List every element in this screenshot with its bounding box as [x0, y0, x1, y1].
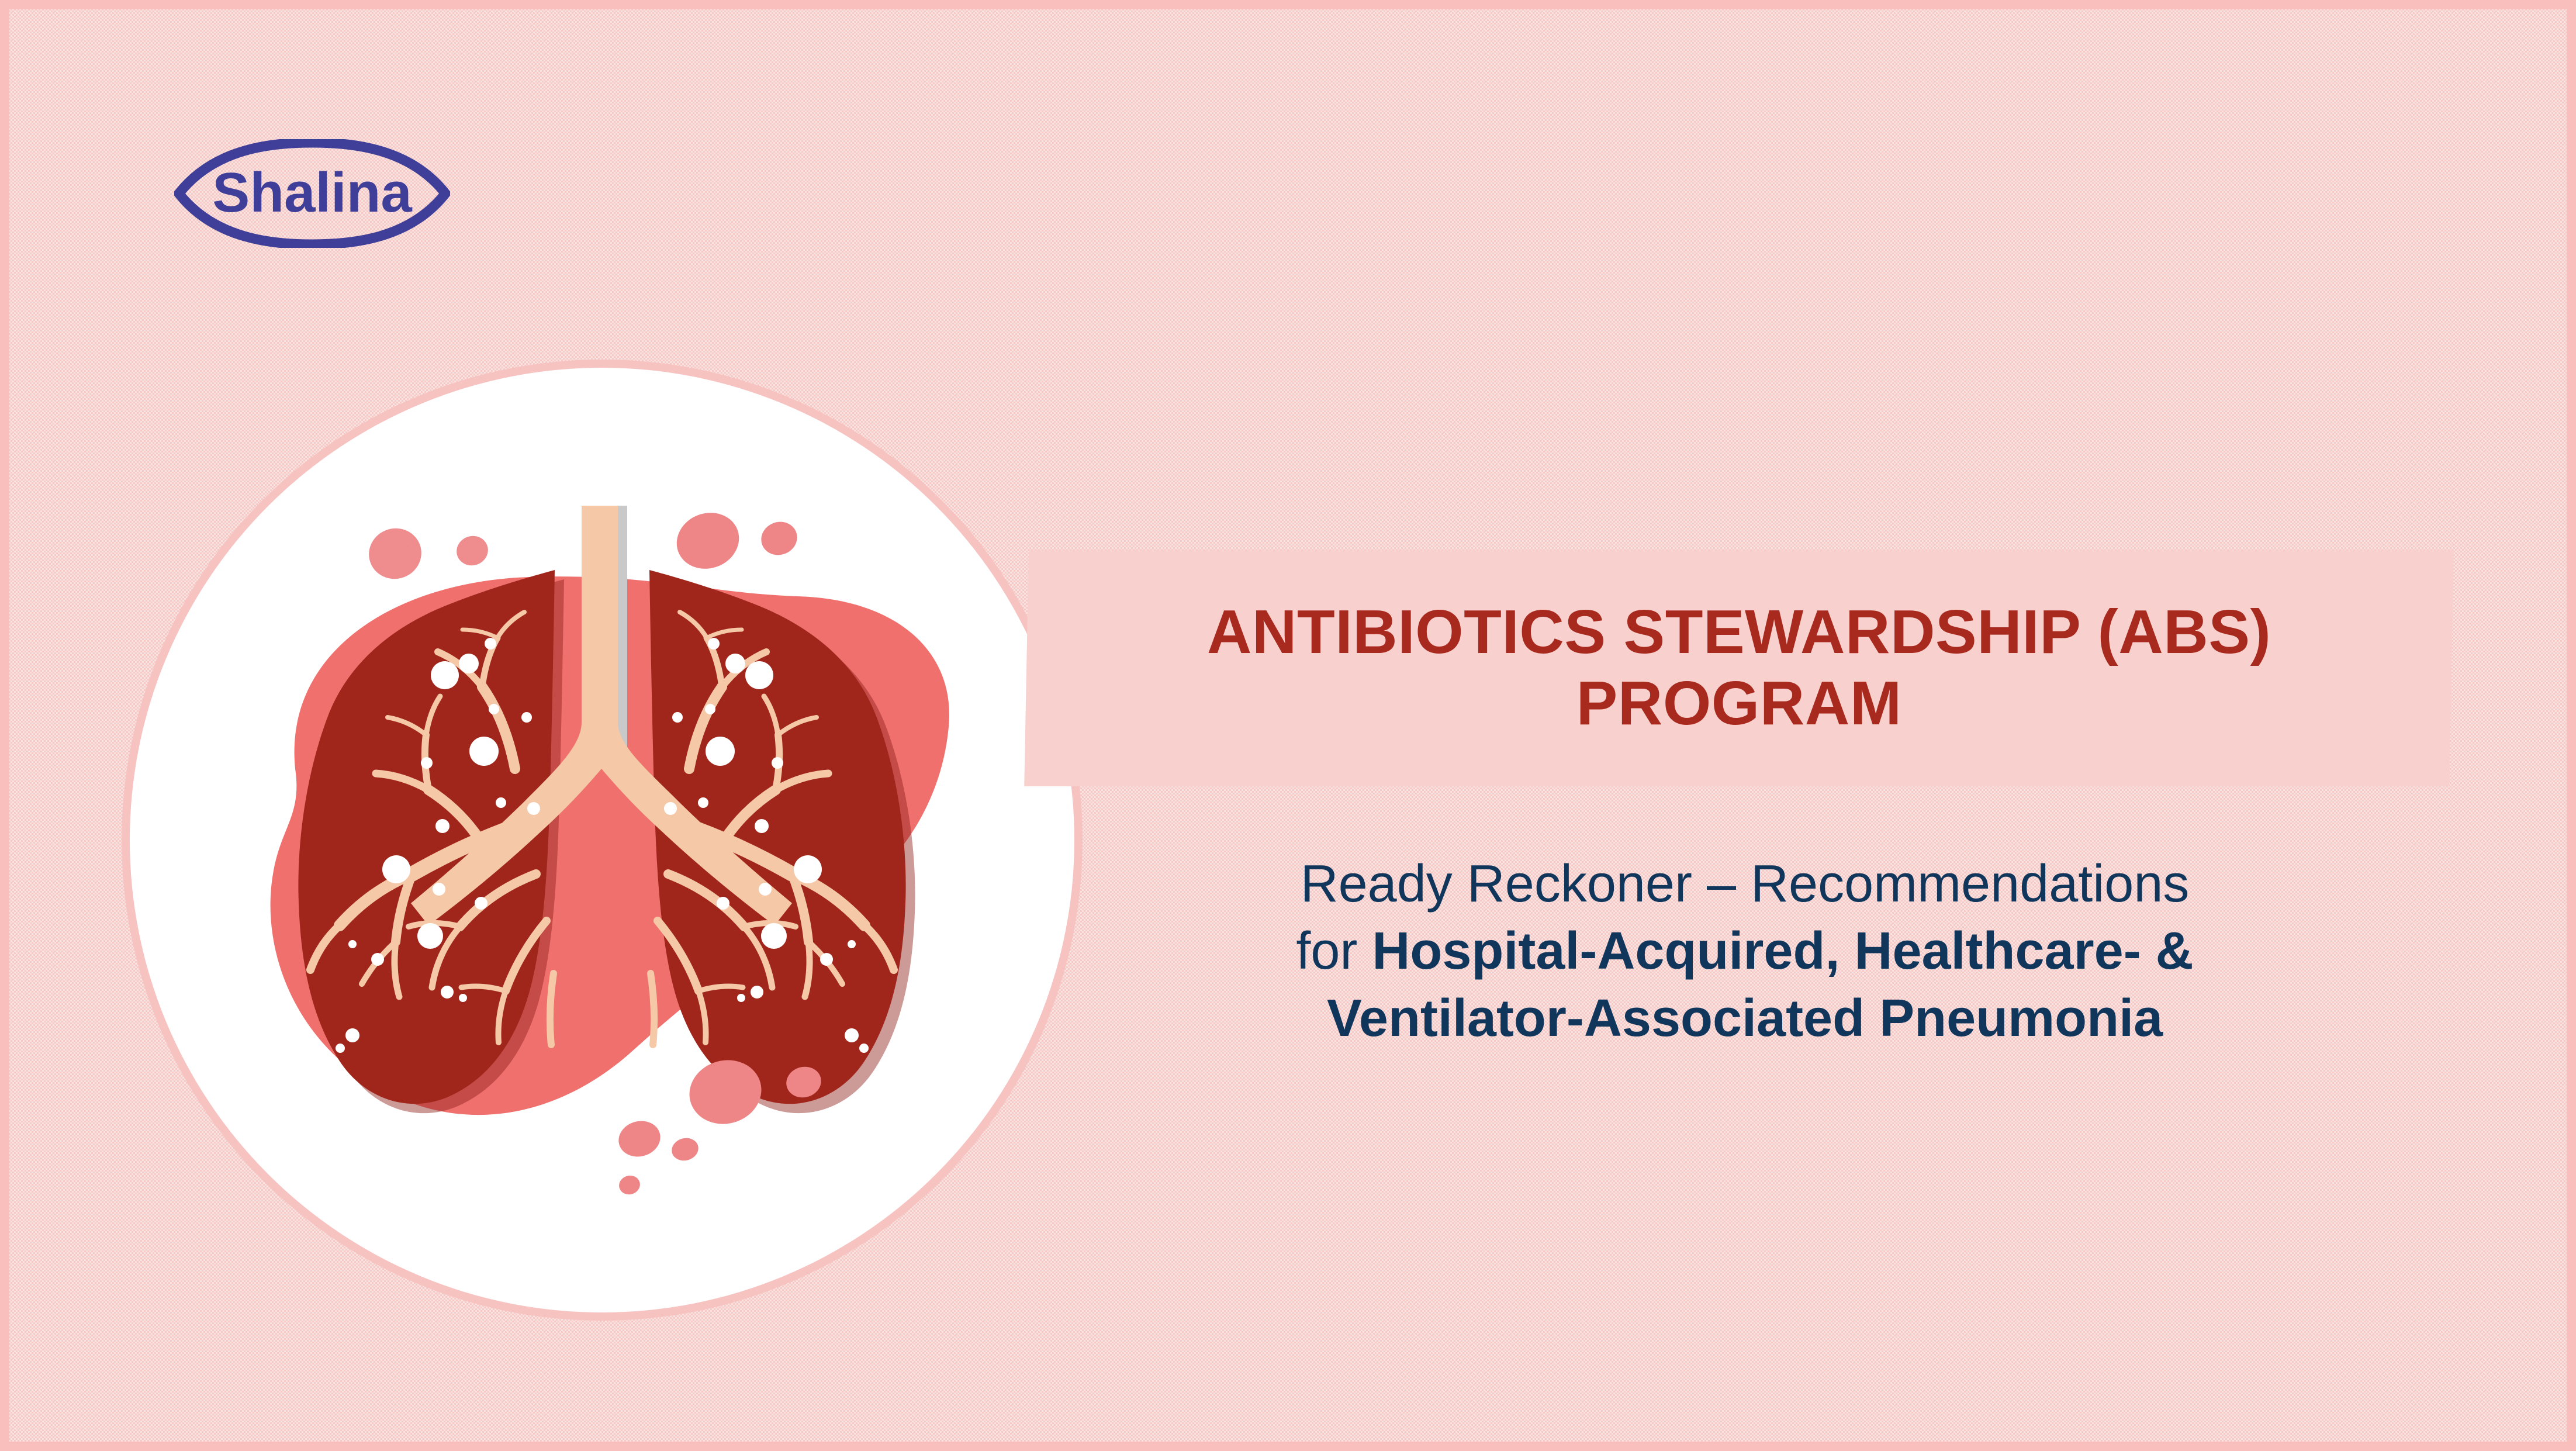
- shalina-logo[interactable]: Shalina: [174, 139, 450, 248]
- subtitle-line-2: for Hospital-Acquired, Healthcare- &: [1099, 918, 2391, 985]
- slide-root: Shalina: [0, 0, 2576, 1451]
- page-title: ANTIBIOTICS STEWARDSHIP (ABS) PROGRAM: [1050, 597, 2428, 740]
- logo-wordmark: Shalina: [212, 161, 412, 224]
- border-stripe-left: [0, 0, 9, 1451]
- border-stripe-bottom: [0, 1442, 2576, 1451]
- subtitle-line-1: Ready Reckoner – Recommendations: [1099, 851, 2391, 918]
- title-band: ANTIBIOTICS STEWARDSHIP (ABS) PROGRAM: [1024, 550, 2454, 786]
- lungs-illustration: [120, 360, 1096, 1330]
- subtitle-line-2-prefix: for: [1296, 922, 1372, 980]
- border-stripe-top: [0, 0, 2576, 9]
- subtitle-block: Ready Reckoner – Recommendations for Hos…: [1099, 851, 2391, 1053]
- border-stripe-right: [2567, 0, 2576, 1451]
- subtitle-line-3: Ventilator-Associated Pneumonia: [1099, 985, 2391, 1052]
- subtitle-line-2-bold: Hospital-Acquired, Healthcare- &: [1372, 922, 2193, 980]
